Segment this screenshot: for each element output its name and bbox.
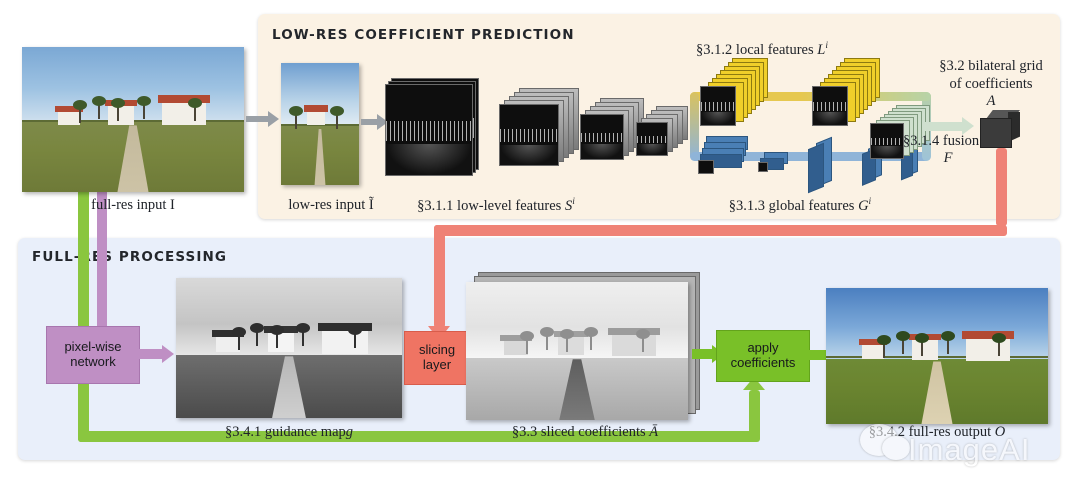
global-feature-bar-3	[800, 140, 860, 190]
low-level-feature-stack-4	[636, 106, 696, 162]
full-res-panel-title: FULL-RES PROCESSING	[32, 249, 227, 265]
low-res-panel-title: LOW-RES COEFFICIENT PREDICTION	[272, 27, 575, 43]
local-features-text: §3.1.2 local features	[696, 42, 814, 58]
bilateral-grid-cube	[978, 110, 1026, 152]
full-res-input-image	[22, 47, 244, 192]
sliced-coefficients-image	[466, 282, 688, 420]
low-res-input-image	[281, 63, 359, 185]
fusion-symbol: F	[944, 150, 953, 166]
sliced-coefficients-text: §3.3 sliced coefficients	[512, 424, 646, 440]
global-feature-bar-1	[700, 136, 750, 184]
apply-coefficients-box[interactable]: apply coefficients	[716, 330, 810, 382]
low-level-features-text: §3.1.1 low-level features	[417, 198, 561, 214]
apply-output-arrow	[808, 350, 828, 360]
sliced-coefficients-stack	[466, 272, 708, 422]
slicing-layer-box[interactable]: slicing layer	[404, 331, 470, 385]
global-features-text: §3.1.3 global features	[729, 198, 855, 214]
sliced-to-apply-arrow	[692, 349, 714, 359]
apply-line2: coefficients	[731, 355, 796, 370]
red-path-segment-down-right	[996, 148, 1007, 226]
pixel-wise-line2: network	[70, 354, 116, 369]
pixel-wise-network-box[interactable]: pixel-wise network	[46, 326, 140, 384]
guidance-map-label: §3.4.1 guidance mapg	[225, 424, 353, 441]
full-res-output-symbol: O	[995, 424, 1005, 440]
global-features-label: §3.1.3 global features Gi	[729, 197, 871, 215]
fusion-label: §3.1.4 fusion	[903, 133, 979, 150]
local-features-label: §3.1.2 local features Li	[696, 41, 828, 59]
full-res-output-image	[826, 288, 1048, 424]
guidance-map-text: §3.4.1 guidance map	[225, 424, 346, 440]
fusion-symbol-label: F	[944, 150, 953, 167]
bilateral-grid-symbol: A	[987, 93, 996, 109]
global-superscript: i	[869, 197, 872, 207]
guidance-map-image	[176, 278, 402, 418]
apply-line1: apply	[747, 340, 778, 355]
local-superscript: i	[825, 41, 828, 51]
slicing-line1: slicing	[419, 342, 455, 357]
low-level-feature-stack-1	[385, 78, 481, 178]
bilateral-grid-label-line2: of coefficients	[949, 76, 1032, 93]
input-downsample-arrowhead	[268, 111, 279, 127]
input-downsample-arrow	[246, 116, 270, 122]
guidance-map-symbol: g	[346, 424, 353, 440]
low-level-superscript: i	[572, 197, 575, 207]
fusion-text: §3.1.4 fusion	[903, 133, 979, 149]
split-ribbon-left	[690, 92, 699, 160]
low-level-symbol: S	[565, 198, 572, 214]
low-res-input-label: low-res input Ĩ	[288, 197, 373, 214]
fusion-arrow	[924, 122, 966, 131]
sliced-coefficients-symbol: Ā	[649, 424, 658, 440]
full-res-output-text: §3.4.2 full-res output	[869, 424, 991, 440]
local-feature-stack-1	[700, 58, 772, 136]
red-path-segment-left	[434, 225, 1007, 236]
full-res-output-label: §3.4.2 full-res output O	[869, 424, 1006, 441]
full-res-input-label: full-res input I	[91, 197, 175, 214]
architecture-figure: LOW-RES COEFFICIENT PREDICTION FULL-RES …	[0, 0, 1080, 488]
low-level-features-label: §3.1.1 low-level features Si	[417, 197, 575, 215]
pixelwise-output-arrowhead	[162, 345, 174, 363]
green-path-segment-up	[749, 390, 760, 436]
slicing-line2: layer	[423, 357, 451, 372]
low-level-feature-stack-2	[497, 88, 583, 170]
sliced-coefficients-label: §3.3 sliced coefficients Ā	[512, 424, 658, 441]
pixel-wise-line1: pixel-wise	[64, 339, 121, 354]
pixelwise-output-arrow	[138, 349, 164, 359]
red-path-segment-down-left	[434, 225, 445, 328]
bilateral-grid-symbol-label: A	[987, 93, 996, 110]
bilateral-grid-label-line1: §3.2 bilateral grid	[939, 58, 1042, 75]
global-feature-bar-2	[760, 152, 790, 178]
green-path-segment-down	[78, 186, 89, 442]
global-symbol: G	[858, 198, 868, 214]
